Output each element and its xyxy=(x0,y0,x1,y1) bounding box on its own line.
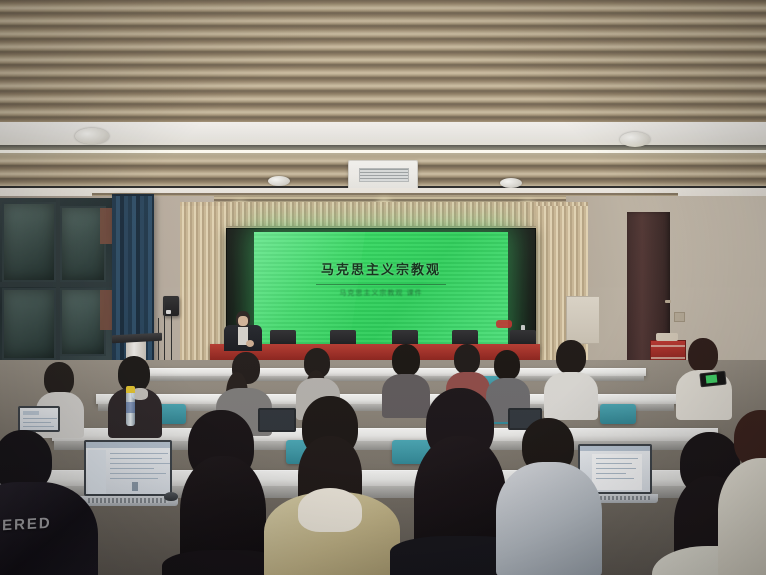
person-head xyxy=(454,344,480,374)
laptop-content-line xyxy=(596,478,634,479)
laptop-content-line xyxy=(596,463,632,464)
laptop-content-line xyxy=(110,478,158,479)
back-wall-wood-left xyxy=(180,206,226,366)
phone-screen-preview xyxy=(706,374,718,383)
projection-screen[interactable]: 马克思主义宗教观 马克思主义宗教观 课件 xyxy=(254,232,508,344)
classroom-chair[interactable] xyxy=(600,404,636,424)
ceiling-ac-cassette-icon xyxy=(348,160,418,190)
laptop-screen[interactable] xyxy=(84,440,172,496)
laptop-content-line xyxy=(110,453,168,454)
laptop-document xyxy=(592,454,642,490)
exterior-brick xyxy=(100,290,112,330)
ceiling-speaker-icon xyxy=(75,128,109,144)
laptop-keyboard[interactable] xyxy=(88,498,168,503)
laptop-toolbar xyxy=(580,446,652,451)
display-brand-logo-icon xyxy=(496,320,512,328)
ceiling-speaker-icon xyxy=(500,178,522,188)
laptop-content-line xyxy=(596,458,638,459)
laptop-content-line xyxy=(596,473,626,474)
laptop-content-line xyxy=(110,458,162,459)
laptop-content-block xyxy=(23,411,39,415)
slide-subtitle: 马克思主义宗教观 课件 xyxy=(254,288,508,298)
wall-outlet-plate-icon xyxy=(674,312,685,322)
person-head xyxy=(392,344,420,376)
person-head xyxy=(556,340,586,374)
window-pane xyxy=(2,288,56,360)
back-wall-wood-top xyxy=(180,202,588,226)
laptop-screen[interactable] xyxy=(18,406,60,432)
wall-cable xyxy=(164,300,165,366)
case-top-item xyxy=(656,333,678,341)
presenter-face xyxy=(238,316,248,326)
laptop-base[interactable] xyxy=(78,496,178,506)
computer-mouse[interactable] xyxy=(164,492,178,501)
laptop-content-line xyxy=(23,418,57,419)
laptop-content-line xyxy=(110,473,166,474)
wall-cable xyxy=(158,318,159,366)
person-head xyxy=(688,338,718,372)
bottle-label xyxy=(126,402,135,413)
ceiling-speaker-icon xyxy=(268,176,290,186)
laptop-content-line xyxy=(110,463,170,464)
bottle-cap-icon xyxy=(126,386,135,393)
case-band xyxy=(651,357,685,359)
person-body xyxy=(382,374,430,418)
jacket-logo-text: ERED xyxy=(2,515,52,535)
laptop-cursor xyxy=(132,482,138,491)
door-handle-icon[interactable] xyxy=(665,300,671,303)
ac-grill xyxy=(359,168,409,182)
ceiling-speaker-icon xyxy=(620,132,650,147)
ceiling-led-strip xyxy=(0,150,766,153)
presenter-hand xyxy=(246,340,254,347)
laptop-sidebar xyxy=(88,450,106,494)
person-hood xyxy=(298,488,362,532)
case-band xyxy=(651,345,685,347)
person-body xyxy=(496,462,602,575)
person-body xyxy=(544,372,598,420)
laptop-content-line xyxy=(23,426,54,427)
laptop-content-line xyxy=(596,468,636,469)
ceiling-wood-slats-upper xyxy=(0,0,766,127)
wall-speaker-icon xyxy=(163,296,179,316)
window-pane xyxy=(2,202,56,282)
person-head xyxy=(44,362,74,396)
exterior-brick xyxy=(100,208,112,244)
person-head xyxy=(494,350,520,380)
right-wall-panel xyxy=(566,296,600,344)
laptop-toolbar xyxy=(86,442,172,448)
laptop-content-line xyxy=(23,422,51,423)
equipment-case xyxy=(650,340,686,362)
slide-title: 马克思主义宗教观 xyxy=(254,259,508,278)
lecture-hall-photo: 马克思主义宗教观 马克思主义宗教观 课件 xyxy=(0,0,766,575)
slide-divider xyxy=(316,284,446,285)
window-mullion xyxy=(0,282,112,287)
laptop-content-line xyxy=(110,468,154,469)
laptop-screen[interactable] xyxy=(258,408,296,432)
window-mullion xyxy=(56,198,60,364)
